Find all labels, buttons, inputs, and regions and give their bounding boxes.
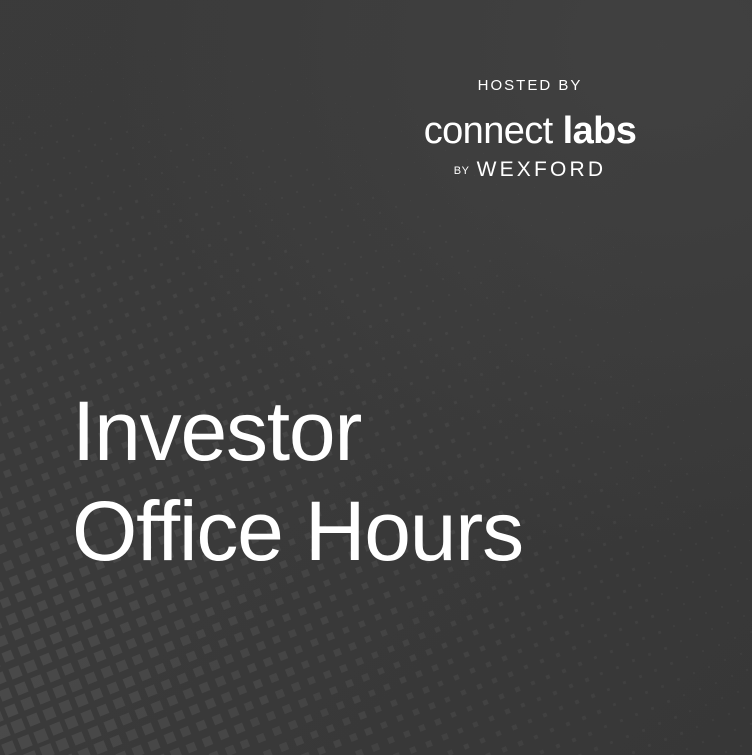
poster-title-line-2: Office Hours <box>72 482 523 582</box>
poster-title: Investor Office Hours <box>72 382 523 582</box>
connect-labs-wordmark: connect labs <box>380 112 680 150</box>
by-label: BY <box>454 165 470 177</box>
parent-brand-name: WEXFORD <box>477 158 607 181</box>
event-poster: HOSTED BY connect labs BYWEXFORD Investo… <box>0 0 752 755</box>
hosted-by-logo-block: HOSTED BY connect labs BYWEXFORD <box>380 78 680 180</box>
brand-name-part1: connect <box>424 110 553 152</box>
brand-name-part2: labs <box>563 110 637 152</box>
poster-title-line-1: Investor <box>72 382 523 482</box>
hosted-by-label: HOSTED BY <box>380 78 680 93</box>
by-wexford-lockup: BYWEXFORD <box>380 159 680 180</box>
